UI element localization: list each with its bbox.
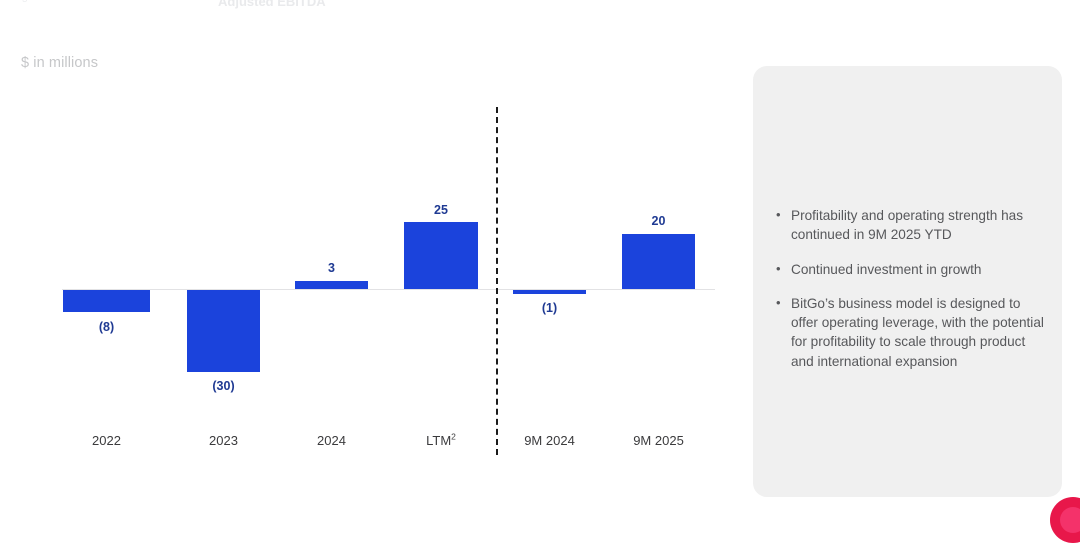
commentary-bullet-list: •Profitability and operating strength ha… bbox=[771, 206, 1051, 386]
bar-2023 bbox=[187, 290, 260, 372]
bullet-text: Continued investment in growth bbox=[791, 262, 981, 277]
category-label-ltm: LTM2 bbox=[404, 433, 478, 448]
value-label-2022: (8) bbox=[63, 320, 150, 334]
bar-9m-2024 bbox=[513, 290, 586, 294]
category-label-ltm-footnote: 2 bbox=[451, 432, 456, 442]
value-label-2024: 3 bbox=[295, 261, 368, 275]
category-label-ltm-text: LTM bbox=[426, 433, 451, 448]
list-item: •Continued investment in growth bbox=[771, 260, 1051, 279]
period-divider-dashed-line bbox=[496, 107, 498, 455]
category-label-2022: 2022 bbox=[63, 433, 150, 448]
value-label-ltm: 25 bbox=[404, 203, 478, 217]
value-label-9m-2024: (1) bbox=[513, 301, 586, 315]
bullet-dot-icon: • bbox=[776, 260, 781, 278]
category-label-2023: 2023 bbox=[187, 433, 260, 448]
category-label-9m-2024: 9M 2024 bbox=[513, 433, 586, 448]
bullet-text: BitGo’s business model is designed to of… bbox=[791, 296, 1044, 369]
category-label-9m-2025: 9M 2025 bbox=[622, 433, 695, 448]
bullet-dot-icon: • bbox=[776, 294, 781, 312]
bullet-text: Profitability and operating strength has… bbox=[791, 208, 1023, 242]
bar-2024 bbox=[295, 281, 368, 289]
red-circle-badge-inner bbox=[1060, 507, 1080, 533]
value-label-2023: (30) bbox=[187, 379, 260, 393]
bullet-dot-icon: • bbox=[776, 206, 781, 224]
list-item: •Profitability and operating strength ha… bbox=[771, 206, 1051, 245]
bar-chart: (8) (30) 3 25 (1) 20 2022 2023 2024 LTM2… bbox=[0, 0, 740, 520]
bar-9m-2025 bbox=[622, 234, 695, 289]
list-item: •BitGo’s business model is designed to o… bbox=[771, 294, 1051, 371]
commentary-panel: •Profitability and operating strength ha… bbox=[753, 66, 1062, 497]
value-label-9m-2025: 20 bbox=[622, 214, 695, 228]
red-circle-badge bbox=[1050, 497, 1080, 543]
bar-2022 bbox=[63, 290, 150, 312]
zero-baseline bbox=[62, 289, 715, 290]
category-label-2024: 2024 bbox=[295, 433, 368, 448]
bar-ltm bbox=[404, 222, 478, 289]
